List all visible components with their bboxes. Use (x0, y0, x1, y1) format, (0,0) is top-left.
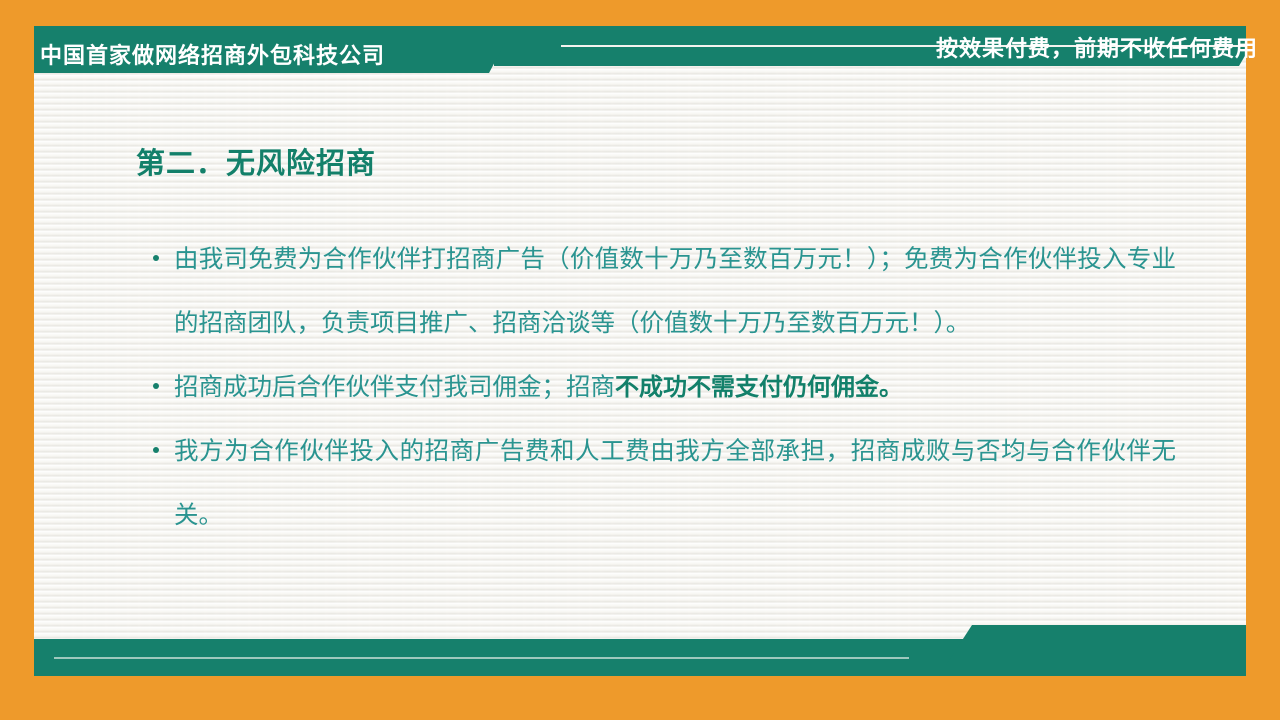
list-item: 我方为合作伙伴投入的招商广告费和人工费由我方全部承担，招商成败与否均与合作伙伴无… (146, 420, 1176, 548)
footer-shape-right (939, 625, 1246, 676)
list-item: 招商成功后合作伙伴支付我司佣金；招商不成功不需支付仍何佣金。 (146, 356, 1176, 420)
footer-divider-rule (54, 657, 909, 659)
page-title: 第二．无风险招商 (136, 140, 376, 182)
bullet-dot-icon (153, 255, 159, 261)
bullet-text: 我方为合作伙伴投入的招商广告费和人工费由我方全部承担，招商成败与否均与合作伙伴无… (174, 438, 1176, 529)
bullet-dot-icon (153, 383, 159, 389)
list-item: 由我司免费为合作伙伴打招商广告（价值数十万乃至数百万元！）；免费为合作伙伴投入专… (146, 228, 1176, 356)
bullet-dot-icon (153, 447, 159, 453)
header-banner-text: 中国首家做网络招商外包科技公司 (40, 38, 385, 70)
bullet-text-emphasis: 不成功不需支付仍何佣金。 (615, 374, 903, 401)
bullet-list: 由我司免费为合作伙伴打招商广告（价值数十万乃至数百万元！）；免费为合作伙伴投入专… (146, 228, 1176, 548)
footer-tagline: 按效果付费，前期不收任何费用 (936, 31, 1258, 63)
bullet-text: 由我司免费为合作伙伴打招商广告（价值数十万乃至数百万元！）；免费为合作伙伴投入专… (174, 246, 1176, 337)
footer-banner (34, 625, 1246, 676)
bullet-text: 招商成功后合作伙伴支付我司佣金；招商 (174, 374, 615, 401)
